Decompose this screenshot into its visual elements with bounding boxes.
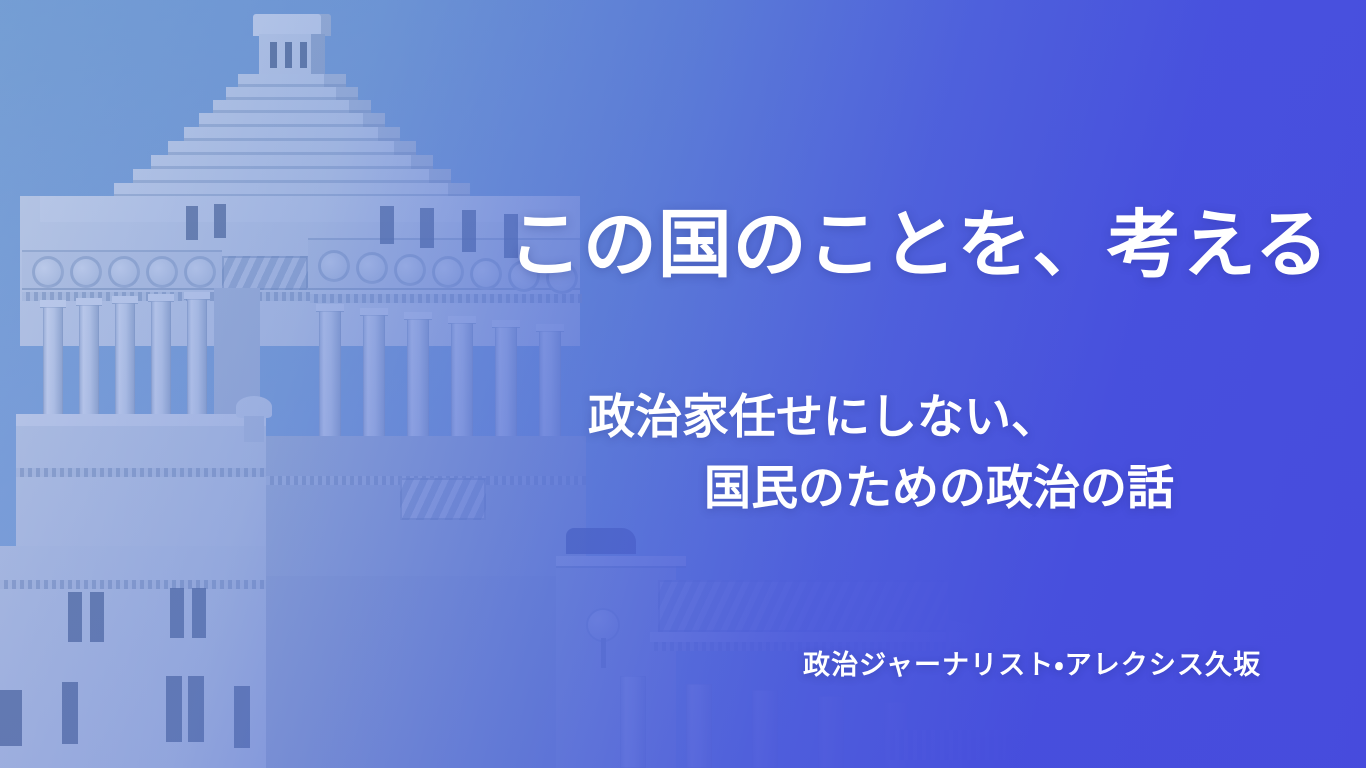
slide-subtitle: 政治家任せにしない、 国民のための政治の話 [588, 382, 1174, 523]
subtitle-line-2: 国民のための政治の話 [588, 453, 1174, 524]
title-slide: この国のことを、考える 政治家任せにしない、 国民のための政治の話 政治ジャーナ… [0, 0, 1366, 768]
text-layer: この国のことを、考える 政治家任せにしない、 国民のための政治の話 政治ジャーナ… [0, 0, 1366, 768]
subtitle-line-1: 政治家任せにしない、 [588, 390, 1058, 443]
author-byline: 政治ジャーナリスト・アレクシス久坂 [803, 652, 1261, 679]
slide-title: この国のことを、考える [508, 208, 1330, 282]
